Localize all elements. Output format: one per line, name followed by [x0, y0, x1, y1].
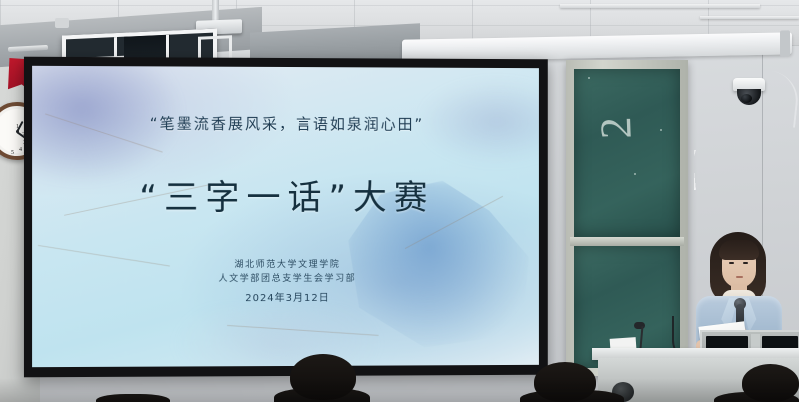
slide-content: “笔墨流香展风采，言语如泉润心田” “三字一话”大赛 湖北师范大学文理学院 人文…	[32, 66, 539, 367]
chalk-speck	[660, 129, 662, 131]
projected-slide: “笔墨流香展风采，言语如泉润心田” “三字一话”大赛 湖北师范大学文理学院 人文…	[32, 66, 539, 367]
chalk-tray	[570, 237, 684, 246]
slide-title: “三字一话”大赛	[139, 170, 434, 219]
presenter-eye	[743, 262, 748, 264]
ceiling-beam	[560, 4, 760, 8]
chalk-speck	[634, 173, 636, 175]
chalkboard: 2	[566, 60, 688, 376]
slide-date: 2024年3月12日	[245, 289, 330, 304]
chalk-speck	[588, 77, 590, 79]
presenter-fringe	[719, 240, 759, 260]
presenter-mouth	[736, 276, 743, 278]
ceiling-beam	[700, 16, 799, 19]
wall-tape-marks	[694, 150, 766, 190]
classroom-scene: 1 2 3 4 5 “笔墨流香展风采，言语如泉润心田” “三字一话”大赛 湖北师…	[0, 0, 799, 402]
camera-lens	[741, 94, 752, 103]
slide-org-line-2: 人文学部团总支学生会学习部	[218, 273, 356, 287]
roller-end-cap	[780, 30, 790, 56]
slide-subtitle: “笔墨流香展风采，言语如泉润心田”	[150, 113, 424, 135]
clock-numeral: 4	[19, 147, 22, 153]
slide-org-line-1: 湖北师范大学文理学院	[218, 259, 356, 273]
slide-organization: 湖北师范大学文理学院 人文学部团总支学生会学习部	[218, 259, 356, 287]
ceiling-vent	[55, 18, 69, 28]
clock-center-pin	[16, 130, 19, 133]
projector-mount-stalk	[212, 0, 219, 22]
chalkboard-upper-panel: 2	[574, 69, 680, 237]
clock-numeral: 5	[11, 150, 14, 156]
projection-screen-frame: “笔墨流香展风采，言语如泉润心田” “三字一话”大赛 湖北师范大学文理学院 人文…	[24, 57, 548, 378]
chalk-mark: 2	[589, 94, 639, 140]
presenter-eye	[729, 262, 734, 264]
foreground-shadow	[0, 378, 799, 402]
